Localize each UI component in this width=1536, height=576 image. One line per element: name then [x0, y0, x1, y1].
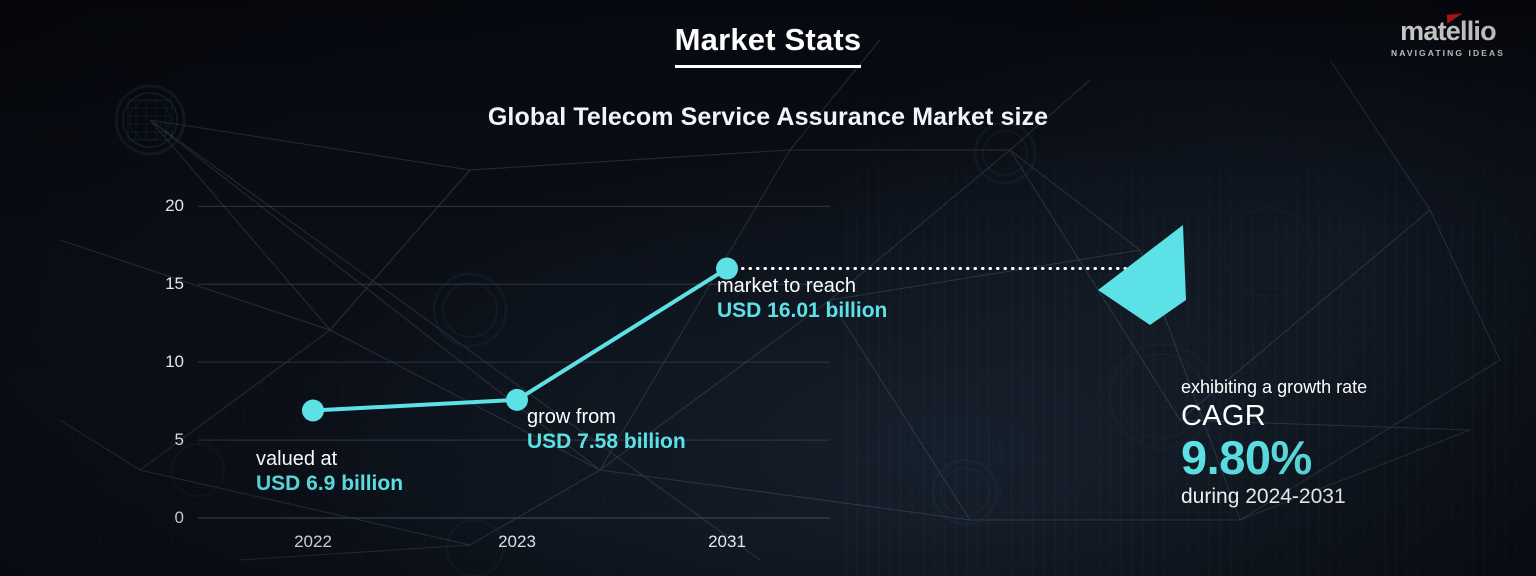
cagr-label: CAGR	[1181, 401, 1367, 432]
cagr-value: 9.80%	[1181, 433, 1367, 483]
cagr-callout: exhibiting a growth rate CAGR 9.80% duri…	[1181, 378, 1367, 508]
data-point-2022[interactable]	[302, 399, 324, 421]
x-axis-tick-2031: 2031	[667, 532, 787, 552]
y-axis-tick-5: 5	[132, 430, 184, 450]
annotation-2023-lead: grow from	[527, 405, 686, 429]
x-axis-tick-2023: 2023	[457, 532, 577, 552]
y-axis-tick-15: 15	[132, 274, 184, 294]
series-line	[313, 269, 727, 411]
annotation-2023: grow from USD 7.58 billion	[527, 405, 686, 455]
y-axis-tick-0: 0	[132, 508, 184, 528]
annotation-2023-value: USD 7.58 billion	[527, 429, 686, 455]
y-axis-tick-20: 20	[132, 196, 184, 216]
cagr-lead: exhibiting a growth rate	[1181, 378, 1367, 397]
y-axis-tick-10: 10	[132, 352, 184, 372]
x-axis-tick-2022: 2022	[253, 532, 373, 552]
annotation-2031: market to reach USD 16.01 billion	[717, 274, 887, 324]
annotation-2031-lead: market to reach	[717, 274, 887, 298]
infographic-canvas: Market Stats Global Telecom Service Assu…	[0, 0, 1536, 576]
cagr-range: during 2024-2031	[1181, 486, 1367, 508]
annotation-2022-lead: valued at	[256, 447, 403, 471]
data-point-2023[interactable]	[506, 389, 528, 411]
annotation-2022-value: USD 6.9 billion	[256, 471, 403, 497]
annotation-2031-value: USD 16.01 billion	[717, 298, 887, 324]
growth-arrow-icon	[1098, 225, 1186, 325]
annotation-2022: valued at USD 6.9 billion	[256, 447, 403, 497]
